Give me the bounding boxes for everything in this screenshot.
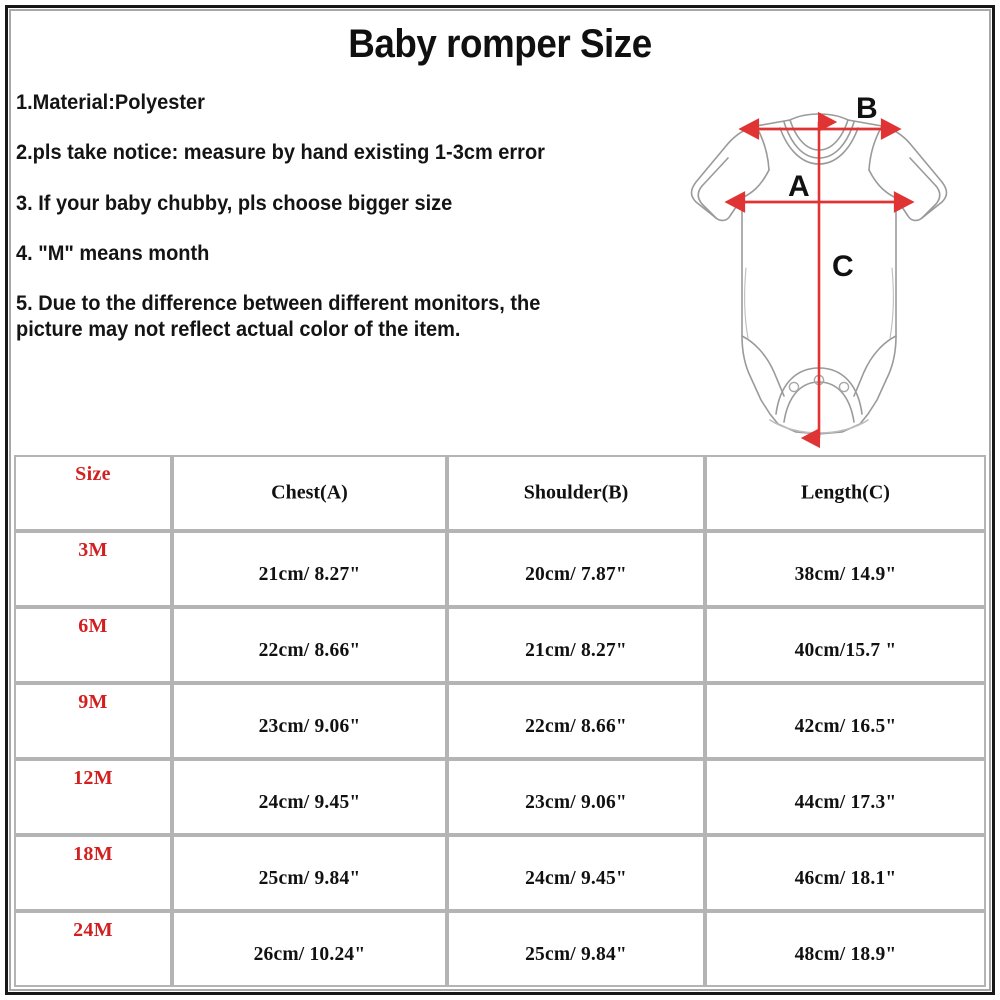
row-shoulder-cell: 24cm/ 9.45": [447, 835, 705, 911]
chest-value: 23cm/ 9.06": [174, 716, 445, 738]
shoulder-value: 21cm/ 8.27": [449, 640, 703, 662]
row-size-cell: 24M: [14, 911, 172, 987]
label-c: C: [832, 250, 854, 283]
length-value: 46cm/ 18.1": [707, 868, 984, 890]
length-value: 42cm/ 16.5": [707, 716, 984, 738]
snap-button: [839, 382, 848, 391]
row-chest-cell: 23cm/ 9.06": [172, 683, 447, 759]
table-header-cell-length: Length(C): [705, 455, 986, 531]
shoulder-value: 23cm/ 9.06": [449, 792, 703, 814]
shoulder-value: 20cm/ 7.87": [449, 564, 703, 586]
length-value: 38cm/ 14.9": [707, 564, 984, 586]
size-label: 12M: [16, 767, 170, 790]
row-chest-cell: 26cm/ 10.24": [172, 911, 447, 987]
table-row: 9M 23cm/ 9.06" 22cm/ 8.66" 42cm/ 16.5": [14, 683, 986, 759]
row-shoulder-cell: 23cm/ 9.06": [447, 759, 705, 835]
row-chest-cell: 25cm/ 9.84": [172, 835, 447, 911]
shoulder-value: 25cm/ 9.84": [449, 944, 703, 966]
table-row: 3M 21cm/ 8.27" 20cm/ 7.87" 38cm/ 14.9": [14, 531, 986, 607]
chest-value: 24cm/ 9.45": [174, 792, 445, 814]
row-length-cell: 44cm/ 17.3": [705, 759, 986, 835]
shoulder-value: 24cm/ 9.45": [449, 868, 703, 890]
table-row: 18M 25cm/ 9.84" 24cm/ 9.45" 46cm/ 18.1": [14, 835, 986, 911]
row-shoulder-cell: 22cm/ 8.66": [447, 683, 705, 759]
row-shoulder-cell: 20cm/ 7.87": [447, 531, 705, 607]
header-label-chest: Chest(A): [174, 482, 445, 505]
size-label: 6M: [16, 615, 170, 638]
table-row: 12M 24cm/ 9.45" 23cm/ 9.06" 44cm/ 17.3": [14, 759, 986, 835]
row-length-cell: 38cm/ 14.9": [705, 531, 986, 607]
label-b: B: [856, 92, 878, 125]
row-size-cell: 9M: [14, 683, 172, 759]
romper-diagram: B A C: [672, 84, 990, 462]
chest-value: 25cm/ 9.84": [174, 868, 445, 890]
chest-value: 21cm/ 8.27": [174, 564, 445, 586]
note-item: 2.pls take notice: measure by hand exist…: [16, 140, 611, 165]
row-length-cell: 42cm/ 16.5": [705, 683, 986, 759]
size-label: 24M: [16, 919, 170, 942]
row-length-cell: 40cm/15.7 ": [705, 607, 986, 683]
table-row: 6M 22cm/ 8.66" 21cm/ 8.27" 40cm/15.7 ": [14, 607, 986, 683]
table-header-cell-shoulder: Shoulder(B): [447, 455, 705, 531]
row-chest-cell: 24cm/ 9.45": [172, 759, 447, 835]
size-chart-page: Baby romper Size 1.Material:Polyester 2.…: [0, 0, 1000, 1000]
table-header-cell-size: Size: [14, 455, 172, 531]
header-label-length: Length(C): [707, 482, 984, 505]
snap-button: [789, 382, 798, 391]
table-row: 24M 26cm/ 10.24" 25cm/ 9.84" 48cm/ 18.9": [14, 911, 986, 987]
note-item: 3. If your baby chubby, pls choose bigge…: [16, 191, 611, 216]
length-value: 44cm/ 17.3": [707, 792, 984, 814]
row-chest-cell: 21cm/ 8.27": [172, 531, 447, 607]
note-item: 1.Material:Polyester: [16, 90, 611, 115]
header-label-shoulder: Shoulder(B): [449, 482, 703, 505]
size-table: Size Chest(A) Shoulder(B) Length(C) 3M 2…: [14, 455, 986, 987]
row-length-cell: 46cm/ 18.1": [705, 835, 986, 911]
chest-value: 26cm/ 10.24": [174, 944, 445, 966]
row-size-cell: 3M: [14, 531, 172, 607]
row-length-cell: 48cm/ 18.9": [705, 911, 986, 987]
notes-list: 1.Material:Polyester 2.pls take notice: …: [16, 90, 656, 342]
note-item: 5. Due to the difference between differe…: [16, 291, 611, 342]
length-value: 48cm/ 18.9": [707, 944, 984, 966]
size-label: 18M: [16, 843, 170, 866]
label-a: A: [788, 170, 810, 203]
shoulder-value: 22cm/ 8.66": [449, 716, 703, 738]
note-item: 4. "M" means month: [16, 241, 611, 266]
header-label-size: Size: [16, 463, 170, 486]
chest-value: 22cm/ 8.66": [174, 640, 445, 662]
table-header-cell-chest: Chest(A): [172, 455, 447, 531]
length-value: 40cm/15.7 ": [707, 640, 984, 662]
row-size-cell: 18M: [14, 835, 172, 911]
size-label: 9M: [16, 691, 170, 714]
row-shoulder-cell: 21cm/ 8.27": [447, 607, 705, 683]
row-size-cell: 6M: [14, 607, 172, 683]
row-size-cell: 12M: [14, 759, 172, 835]
table-header-row: Size Chest(A) Shoulder(B) Length(C): [14, 455, 986, 531]
row-chest-cell: 22cm/ 8.66": [172, 607, 447, 683]
page-title: Baby romper Size: [40, 22, 960, 67]
row-shoulder-cell: 25cm/ 9.84": [447, 911, 705, 987]
size-label: 3M: [16, 539, 170, 562]
